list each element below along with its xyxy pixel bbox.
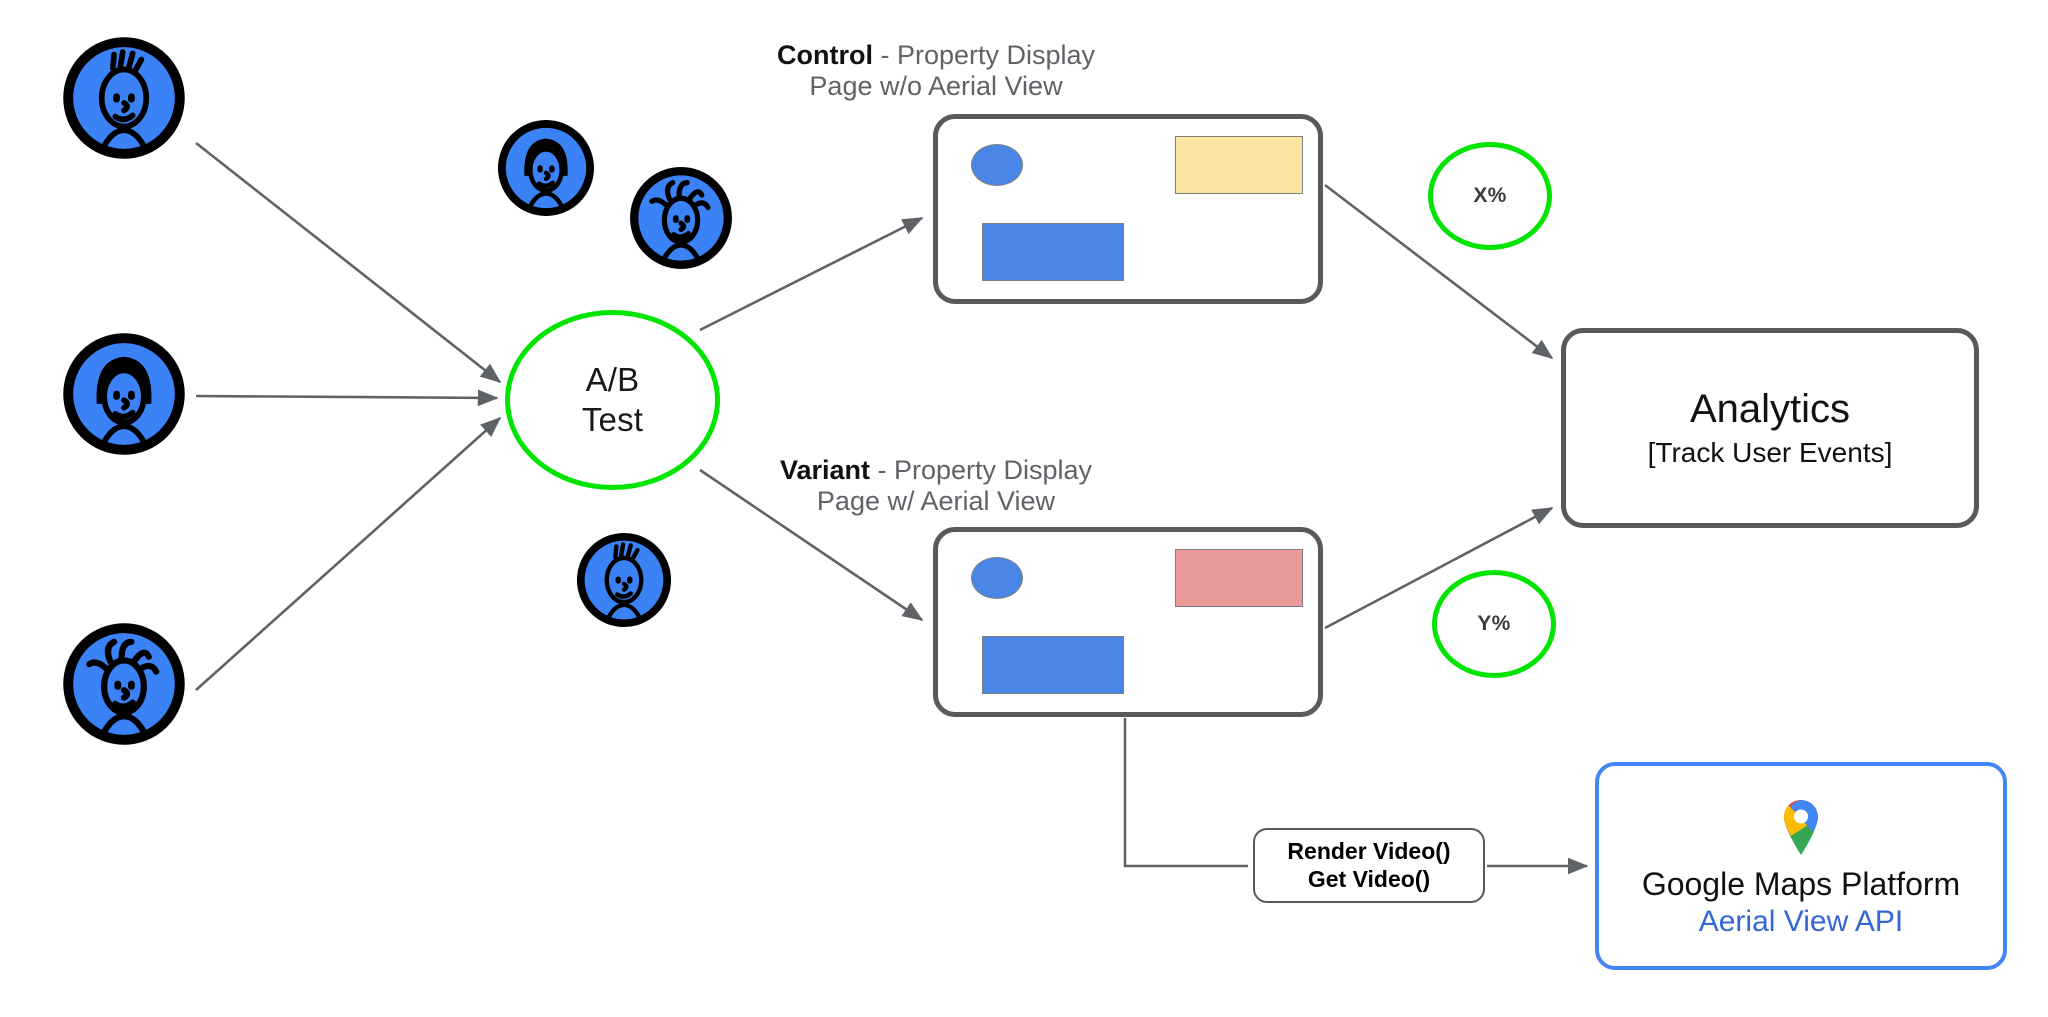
person-bob-icon (62, 332, 186, 456)
render-video-line1: Render Video() (1287, 838, 1450, 866)
person-spiky-icon (62, 36, 186, 160)
person-messy-icon (629, 166, 733, 270)
user-avatar-cluster-a (497, 119, 595, 217)
variant-avatar-placeholder-shape (971, 557, 1023, 599)
user-avatar-cluster-c (576, 532, 672, 628)
control-metric-label: X% (1473, 184, 1506, 208)
diagram-canvas: A/B Test Control - Property Display Page… (0, 0, 2048, 1017)
control-page-mockup[interactable] (933, 114, 1323, 304)
control-avatar-placeholder-shape (971, 144, 1023, 186)
user-avatar-bottom-left (62, 622, 186, 746)
variant-title: Variant - Property Display Page w/ Aeria… (676, 455, 1196, 518)
render-video-node[interactable]: Render Video() Get Video() (1253, 828, 1485, 903)
control-metric-badge: X% (1428, 142, 1552, 250)
google-maps-platform-name: Google Maps Platform (1642, 867, 1960, 903)
google-maps-platform-node[interactable]: Google Maps Platform Aerial View API (1595, 762, 2007, 970)
variant-metric-label: Y% (1477, 612, 1510, 636)
variant-aerial-view-placeholder-shape (1175, 549, 1303, 607)
variant-title-rest: - Property Display (870, 455, 1092, 485)
variant-content-placeholder-shape (982, 636, 1124, 694)
analytics-title: Analytics (1690, 387, 1850, 431)
person-spiky-icon (576, 532, 672, 628)
control-banner-placeholder-shape (1175, 136, 1303, 194)
control-title-bold: Control (777, 40, 873, 70)
variant-page-mockup[interactable] (933, 527, 1323, 717)
variant-title-bold: Variant (780, 455, 870, 485)
control-title: Control - Property Display Page w/o Aeri… (676, 40, 1196, 103)
user-avatar-top-left (62, 36, 186, 160)
google-maps-pin-icon (1778, 794, 1824, 861)
user-avatar-middle-left (62, 332, 186, 456)
person-bob-icon (497, 119, 595, 217)
ab-test-label-line2: Test (582, 400, 643, 440)
ab-test-label-line1: A/B (586, 360, 640, 400)
person-messy-icon (62, 622, 186, 746)
user-avatar-cluster-b (629, 166, 733, 270)
analytics-subtitle: [Track User Events] (1648, 437, 1893, 469)
control-title-line2: Page w/o Aerial View (676, 71, 1196, 102)
control-content-placeholder-shape (982, 223, 1124, 281)
variant-metric-badge: Y% (1432, 570, 1556, 678)
analytics-node[interactable]: Analytics [Track User Events] (1561, 328, 1979, 528)
control-title-rest: - Property Display (873, 40, 1095, 70)
render-video-line2: Get Video() (1308, 866, 1430, 894)
variant-title-line2: Page w/ Aerial View (676, 486, 1196, 517)
aerial-view-api-link[interactable]: Aerial View API (1699, 905, 1904, 939)
